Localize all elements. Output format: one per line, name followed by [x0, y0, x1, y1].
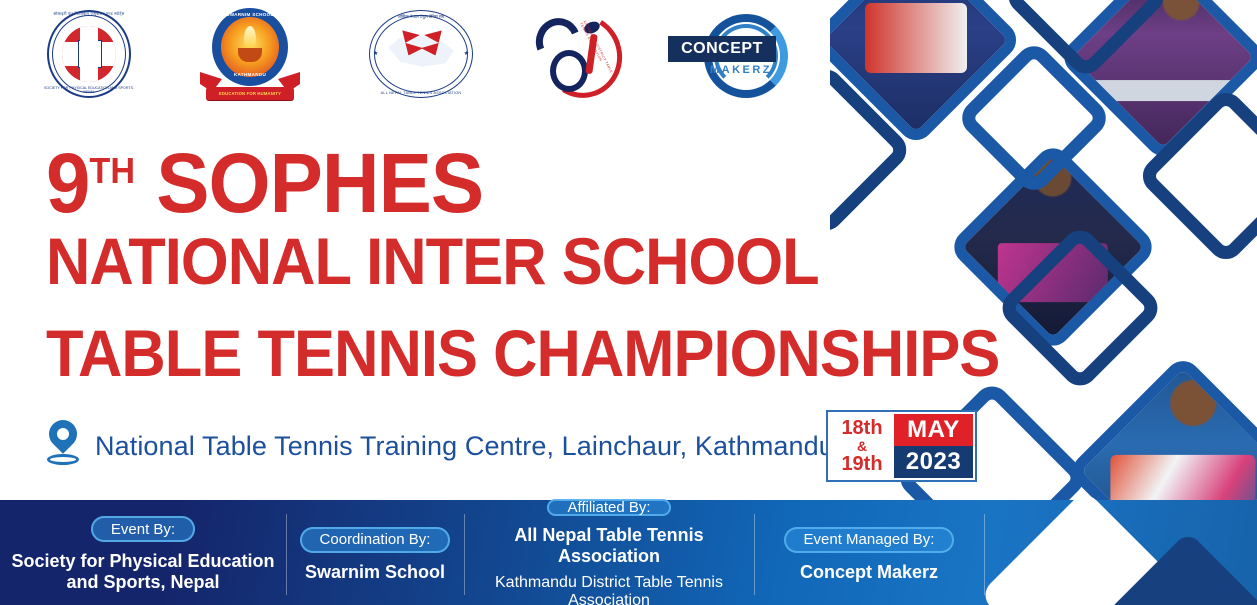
- location-pin-icon: [45, 418, 81, 474]
- credit-managed-by: Event Managed By: Concept Makerz: [754, 500, 984, 605]
- event-name: SOPHES: [156, 136, 483, 230]
- location-pin-icon-head: [43, 414, 83, 454]
- antta-logo-top-text: अखिल नेपाल टेबुल टेनिस संघ: [365, 14, 477, 20]
- credit-affiliated-by-sub: Kathmandu District Table Tennis Associat…: [464, 574, 754, 605]
- swarnim-logo-ribbon-text: EDUCATION FOR HUMANITY: [206, 87, 294, 100]
- antta-logo: ★ ★ अखिल नेपाल टेबुल टेनिस संघ ALL NEPAL…: [365, 8, 477, 102]
- sophes-logo: सोसाइटी फर फिजिकल एजुकेशन एण्ड स्पोर्ट्स…: [38, 8, 140, 100]
- kdtta-logo-navy-loop: [550, 50, 588, 92]
- credit-managed-by-name: Concept Makerz: [800, 562, 938, 583]
- date-badge-days: 18th & 19th: [830, 414, 894, 478]
- swarnim-school-logo: SWARNIM SCHOOL KATHMANDU EDUCATION FOR H…: [198, 8, 302, 104]
- sponsor-logo-strip: सोसाइटी फर फिजिकल एजुकेशन एण्ड स्पोर्ट्स…: [0, 0, 840, 108]
- event-poster: सोसाइटी फर फिजिकल एजुकेशन एण्ड स्पोर्ट्स…: [0, 0, 1257, 605]
- date-badge-day-first: 18th: [841, 418, 882, 438]
- antta-logo-star-right: ★: [464, 50, 469, 57]
- antta-logo-bottom-text: ALL NEPAL TABLE TENNIS ASSOCIATION: [365, 91, 477, 95]
- credit-affiliated-by-name: All Nepal Table Tennis Association: [464, 525, 754, 567]
- kdtta-logo: KATHMANDU DISTRICT TABLE TENNIS ASSOCIAT…: [528, 8, 638, 106]
- swarnim-logo-top-text: SWARNIM SCHOOL: [212, 12, 288, 17]
- credit-affiliated-by: Affiliated By: All Nepal Table Tennis As…: [464, 500, 754, 605]
- credit-event-by-name-text: Society for Physical Education and Sport…: [11, 551, 274, 592]
- credit-coordination-by: Coordination By: Swarnim School: [286, 500, 464, 605]
- credit-coordination-by-label: Coordination By:: [300, 527, 451, 553]
- location-pin-icon-base: [47, 454, 79, 465]
- edition-ordinal: TH: [89, 150, 135, 191]
- credit-event-by-label: Event By:: [91, 516, 195, 542]
- concept-makerz-logo: CONCEPT MAKERZ: [662, 8, 812, 102]
- sophes-logo-emblem: [62, 26, 116, 82]
- page-title-line-2: NATIONAL INTER SCHOOL: [46, 228, 819, 294]
- credit-event-by-name: Society for Physical Education and Sport…: [11, 551, 274, 593]
- edition-number: 9: [46, 136, 89, 230]
- sophes-logo-core: [78, 40, 102, 68]
- sophes-logo-top-text: सोसाइटी फर फिजिकल एजुकेशन एण्ड स्पोर्ट्स: [38, 11, 140, 17]
- concept-makerz-logo-secondary: MAKERZ: [696, 64, 786, 76]
- date-badge: 18th & 19th MAY 2023: [826, 410, 977, 482]
- concept-makerz-logo-wordmark: CONCEPT: [668, 36, 776, 62]
- sophes-logo-bottom-text: SOCIETY FOR PHYSICAL EDUCATION AND SPORT…: [38, 86, 140, 94]
- credit-coordination-by-name: Swarnim School: [305, 562, 445, 583]
- page-title-line-1: 9TH SOPHES: [46, 129, 483, 225]
- date-badge-day-second: 19th: [841, 454, 882, 474]
- date-badge-year: 2023: [894, 446, 973, 478]
- date-badge-ampersand: &: [857, 439, 867, 453]
- venue-text: National Table Tennis Training Centre, L…: [95, 431, 834, 462]
- swarnim-logo-flame: [244, 26, 256, 48]
- antta-logo-star-left: ★: [373, 50, 378, 57]
- date-badge-month: MAY: [894, 414, 973, 446]
- venue-row: National Table Tennis Training Centre, L…: [45, 418, 834, 474]
- swarnim-logo-bottom-text: KATHMANDU: [212, 72, 288, 77]
- date-badge-month-year: MAY 2023: [894, 414, 973, 478]
- credit-event-by: Event By: Society for Physical Education…: [0, 500, 286, 605]
- concept-makerz-logo-primary: CONCEPT: [681, 40, 763, 58]
- swarnim-logo-ribbon: EDUCATION FOR HUMANITY: [206, 87, 294, 100]
- page-title-line-3: TABLE TENNIS CHAMPIONSHIPS: [46, 320, 999, 386]
- credit-affiliated-by-label: Affiliated By:: [547, 499, 670, 516]
- credit-managed-by-label: Event Managed By:: [784, 527, 955, 553]
